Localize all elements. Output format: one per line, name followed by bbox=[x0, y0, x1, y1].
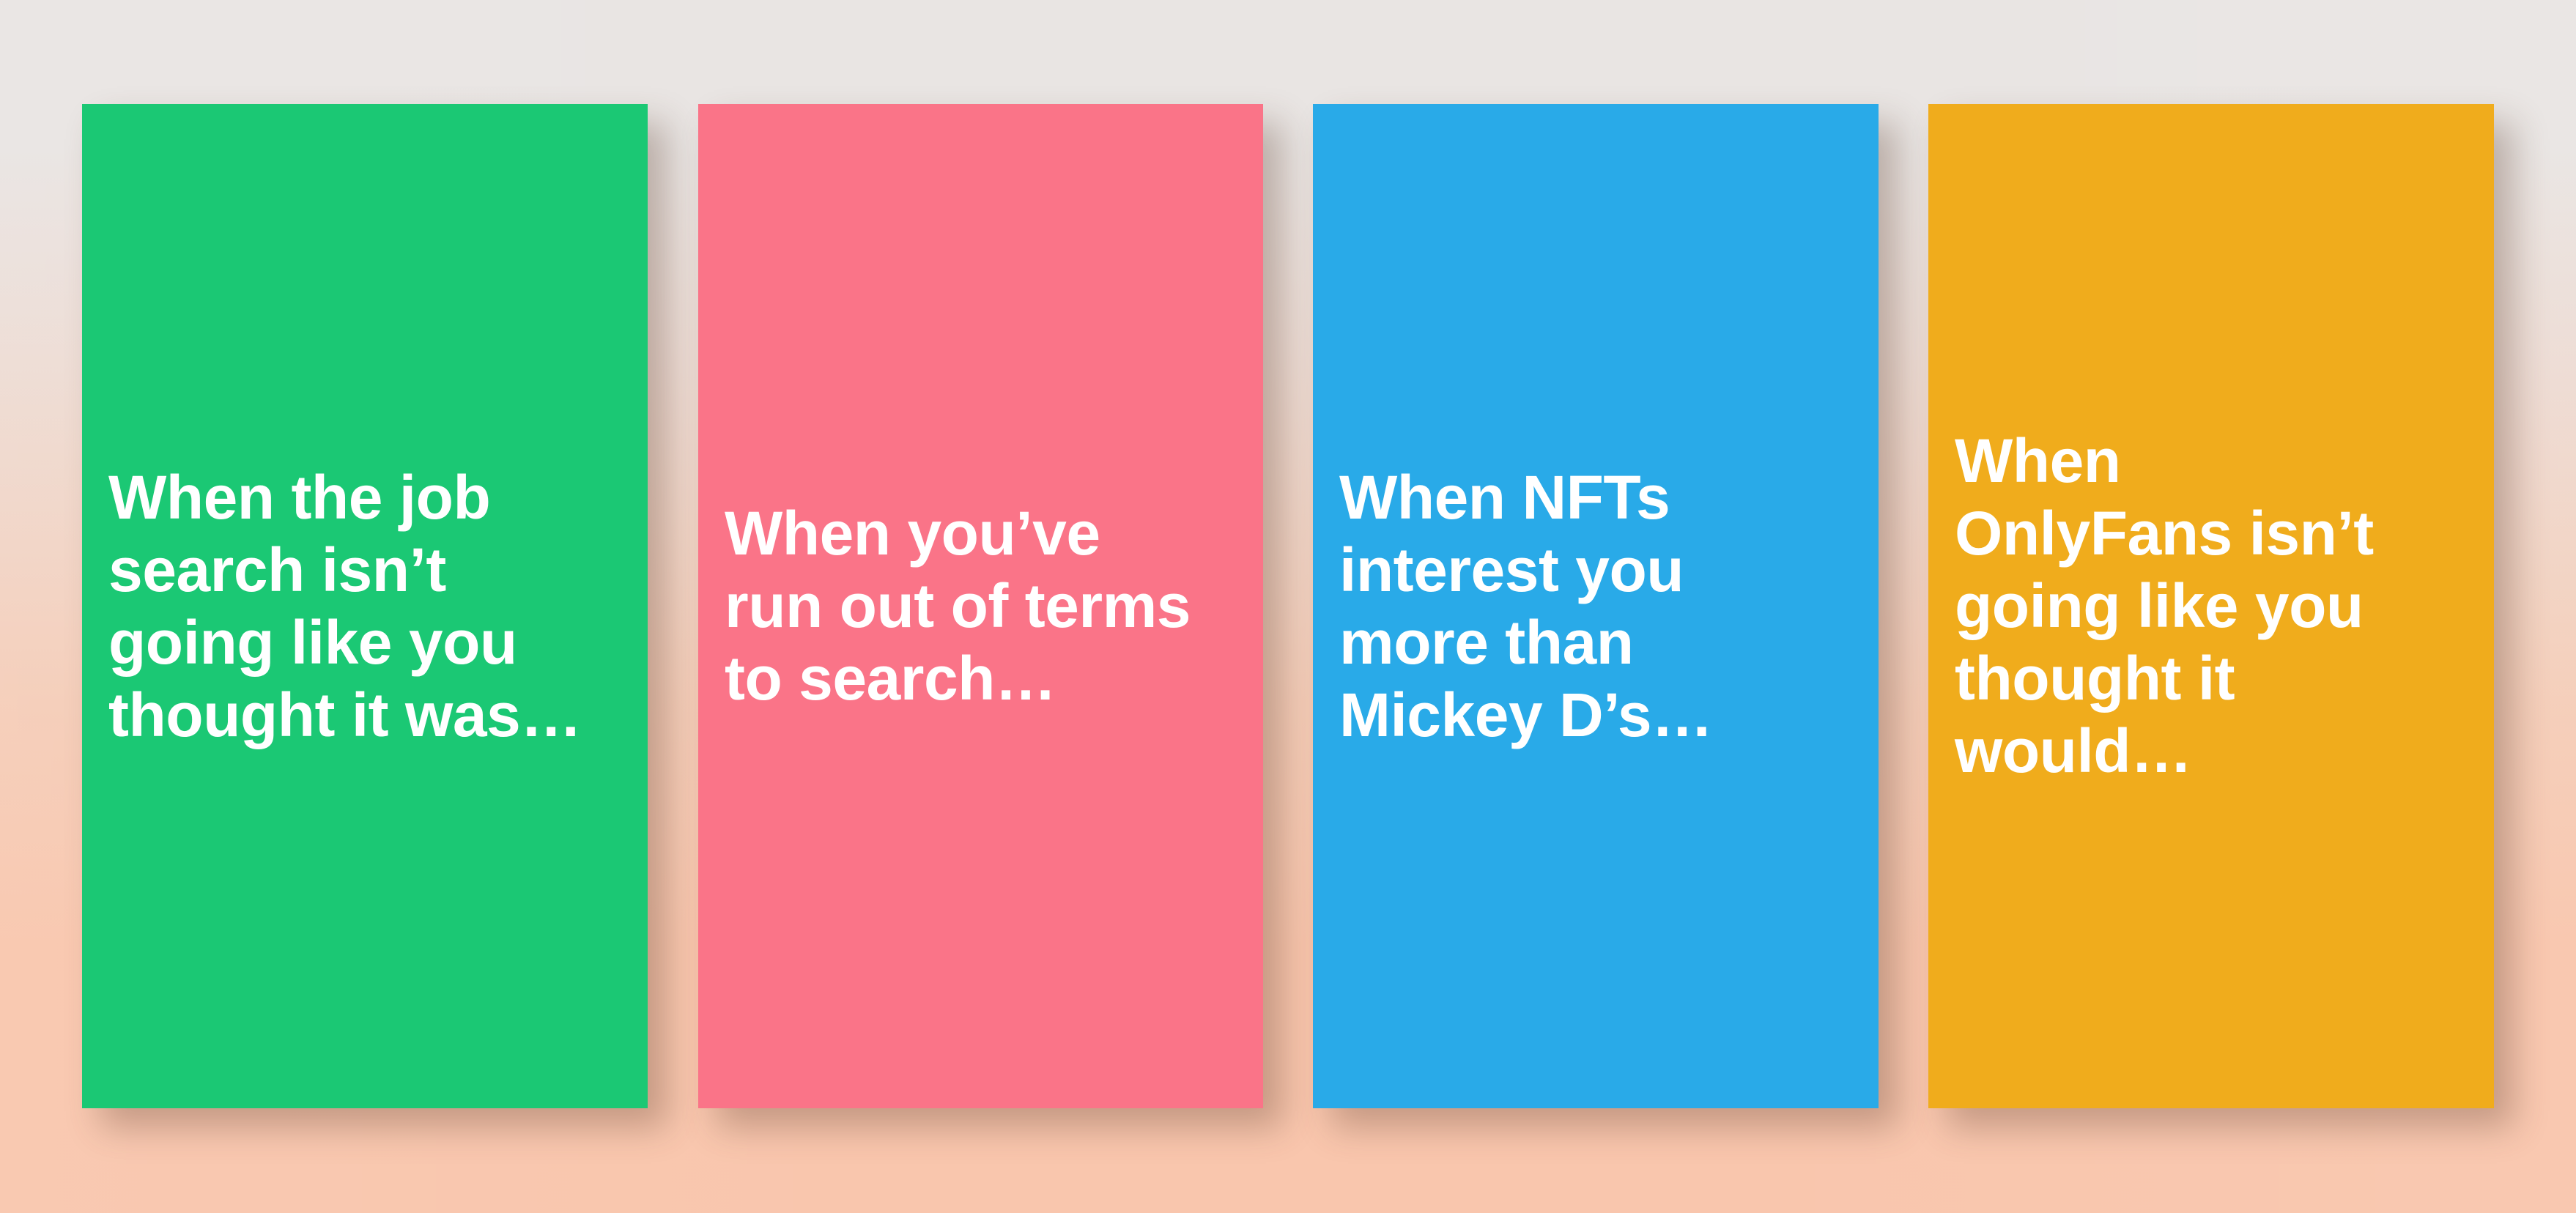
card-caption: When you’ve run out of terms to search… bbox=[698, 497, 1263, 715]
card-gallery: When the job search isn’t going like you… bbox=[0, 0, 2576, 1213]
story-card-nfts[interactable]: When NFTs interest you more than Mickey … bbox=[1313, 104, 1879, 1108]
card-caption: When the job search isn’t going like you… bbox=[82, 461, 648, 752]
story-card-search-terms[interactable]: When you’ve run out of terms to search… bbox=[698, 104, 1263, 1108]
story-card-job-search[interactable]: When the job search isn’t going like you… bbox=[82, 104, 648, 1108]
card-caption: When OnlyFans isn’t going like you thoug… bbox=[1928, 425, 2494, 787]
card-caption: When NFTs interest you more than Mickey … bbox=[1313, 461, 1879, 752]
story-card-onlyfans[interactable]: When OnlyFans isn’t going like you thoug… bbox=[1928, 104, 2494, 1108]
